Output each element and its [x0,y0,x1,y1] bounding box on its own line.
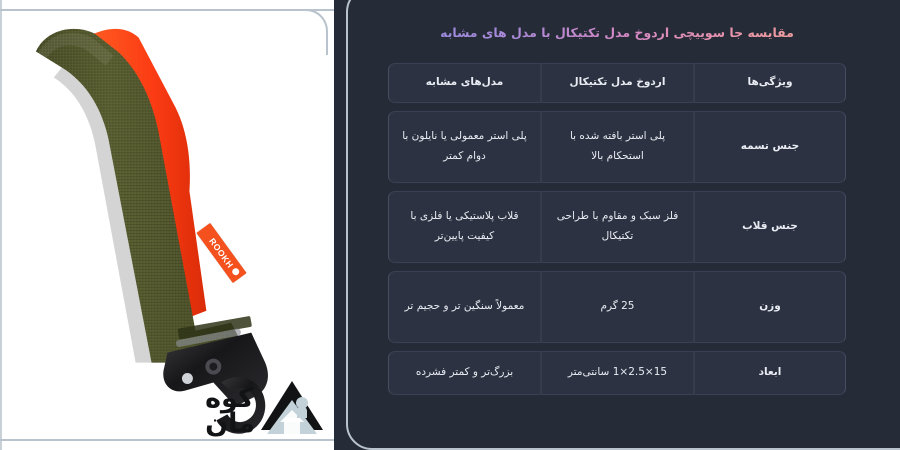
table-row: ابعاد 15×2.5×1 سانتی‌متر بزرگ‌تر و کمتر … [388,351,846,395]
row-feature-label: جنس قلاب [694,191,846,263]
row-value-others: بزرگ‌تر و کمتر فشرده [388,351,541,395]
column-header-feature: ویژگی‌ها [694,63,846,103]
row-value-ours: 15×2.5×1 سانتی‌متر [541,351,694,395]
comparison-table-head: ویژگی‌ها اردوخ مدل تکتیکال مدل‌های مشابه [388,63,846,103]
watermark-text: کوه مان [205,387,255,440]
comparison-content: مقایسه جا سوییچی اردوخ مدل تکتیکال با مد… [334,0,900,450]
row-value-ours: فلز سبک و مقاوم با طراحی تکتیکال [541,191,694,263]
row-value-ours: پلی استر بافته شده با استحکام بالا [541,111,694,183]
comparison-panel: مقایسه جا سوییچی اردوخ مدل تکتیکال با مد… [334,0,900,450]
column-header-ours: اردوخ مدل تکتیکال [541,63,694,103]
watermark-line-2: مان [205,412,255,437]
row-feature-label: جنس تسمه [694,111,846,183]
mountain-house-icon [259,378,325,440]
product-image [0,11,334,439]
row-value-ours: 25 گرم [541,271,694,343]
column-header-others: مدل‌های مشابه [388,63,541,103]
comparison-table-body: جنس تسمه پلی استر بافته شده با استحکام ب… [388,111,846,395]
table-row: جنس قلاب فلز سبک و مقاوم با طراحی تکتیکا… [388,191,846,263]
table-row: جنس تسمه پلی استر بافته شده با استحکام ب… [388,111,846,183]
table-row: وزن 25 گرم معمولاً سنگین تر و حجیم تر [388,271,846,343]
product-photo-panel: ROOKH کوه مان [0,0,334,450]
row-value-others: قلاب پلاستیکی یا فلزی با کیفیت پایین‌تر [388,191,541,263]
row-feature-label: وزن [694,271,846,343]
page-title: مقایسه جا سوییچی اردوخ مدل تکتیکال با مد… [374,24,860,55]
row-feature-label: ابعاد [694,351,846,395]
watermark-logo: کوه مان [205,378,325,440]
table-header-row: ویژگی‌ها اردوخ مدل تکتیکال مدل‌های مشابه [388,63,846,103]
row-value-others: معمولاً سنگین تر و حجیم تر [388,271,541,343]
screenshot-root: ROOKH کوه مان مقایسه جا سوییچی اردوخ مدل… [0,0,900,450]
brand-logo-icon [229,266,242,279]
comparison-table: ویژگی‌ها اردوخ مدل تکتیکال مدل‌های مشابه… [388,55,846,403]
row-value-others: پلی استر معمولی یا نایلون با دوام کمتر [388,111,541,183]
